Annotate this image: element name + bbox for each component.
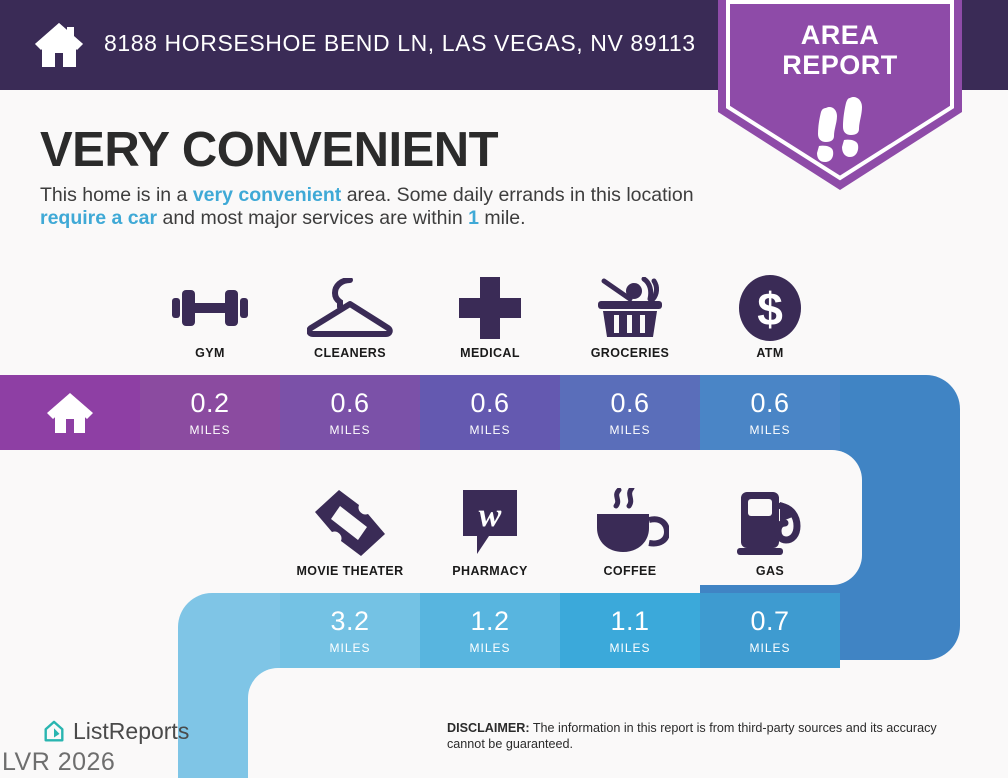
label-medical: MEDICAL [420, 346, 560, 360]
summary-highlight-2: require a car [40, 207, 157, 229]
walgreens-w-icon: w [420, 487, 560, 559]
medical-cross-icon [420, 272, 560, 344]
hanger-icon [280, 272, 420, 344]
distance-unit: MILES [280, 423, 420, 437]
distance-value: 0.6 [280, 390, 420, 417]
listreports-logo-icon [42, 720, 66, 744]
distance-segment-medical: 0.6 MILES [420, 375, 560, 450]
summary-highlight-1: very convenient [193, 184, 341, 206]
distance-unit: MILES [140, 423, 280, 437]
distance-value: 0.2 [140, 390, 280, 417]
distance-value: 0.7 [700, 608, 840, 635]
home-marker-segment [0, 375, 140, 450]
distance-bar-row-1: 0.2 MILES 0.6 MILES 0.6 MILES 0.6 MILES … [0, 375, 840, 450]
summary-highlight-3: 1 [468, 207, 479, 229]
distance-value: 3.2 [280, 608, 420, 635]
distance-value: 1.1 [560, 608, 700, 635]
label-movie-theater: MOVIE THEATER [280, 564, 420, 578]
label-gym: GYM [140, 346, 280, 360]
label-gas: GAS [700, 564, 840, 578]
distance-value: 0.6 [700, 390, 840, 417]
property-address: 8188 HORSESHOE BEND LN, LAS VEGAS, NV 89… [104, 30, 696, 57]
label-groceries: GROCERIES [560, 346, 700, 360]
distance-bar-row-2: 3.2 MILES 1.2 MILES 1.1 MILES 0.7 MILES [178, 593, 840, 668]
distance-segment-atm: 0.6 MILES [700, 375, 840, 450]
svg-text:w: w [479, 497, 502, 534]
svg-text:$: $ [757, 283, 783, 335]
summary-part-1: This home is in a [40, 184, 193, 206]
distance-unit: MILES [560, 423, 700, 437]
distance-unit: MILES [560, 641, 700, 655]
label-pharmacy: PHARMACY [420, 564, 560, 578]
distance-unit: MILES [280, 641, 420, 655]
distance-value: 1.2 [420, 608, 560, 635]
listreports-brand: ListReports [42, 718, 189, 745]
distance-segment-gas: 0.7 MILES [700, 593, 840, 668]
summary-part-4: mile. [479, 207, 526, 229]
area-report-page: 8188 HORSESHOE BEND LN, LAS VEGAS, NV 89… [0, 0, 1008, 778]
distance-segment-cleaners: 0.6 MILES [280, 375, 420, 450]
distance-segment-movie-theater: 3.2 MILES [280, 593, 420, 668]
coffee-cup-icon [560, 487, 700, 559]
summary-text: This home is in a very convenient area. … [40, 184, 720, 230]
label-coffee: COFFEE [560, 564, 700, 578]
disclaimer: DISCLAIMER: The information in this repo… [447, 720, 955, 752]
summary-part-3: and most major services are within [157, 207, 468, 229]
distance-unit: MILES [700, 641, 840, 655]
distance-value: 0.6 [560, 390, 700, 417]
watermark-text: LVR 2026 [2, 748, 115, 777]
dollar-circle-icon: $ [700, 272, 840, 344]
basket-icon [560, 272, 700, 344]
distance-segment-coffee: 1.1 MILES [560, 593, 700, 668]
summary-part-2: area. Some daily errands in this locatio… [341, 184, 693, 206]
distance-unit: MILES [420, 641, 560, 655]
house-icon [46, 391, 94, 435]
distance-value: 0.6 [420, 390, 560, 417]
label-cleaners: CLEANERS [280, 346, 420, 360]
house-icon [33, 20, 85, 70]
page-title: VERY CONVENIENT [40, 122, 498, 178]
distance-unit: MILES [700, 423, 840, 437]
dumbbell-icon [140, 272, 280, 344]
distance-segment-groceries: 0.6 MILES [560, 375, 700, 450]
brand-name: ListReports [73, 718, 189, 745]
gas-pump-icon [700, 487, 840, 559]
distance-unit: MILES [420, 423, 560, 437]
distance-segment-gym: 0.2 MILES [140, 375, 280, 450]
area-report-badge: AREA REPORT [718, 0, 962, 190]
disclaimer-label: DISCLAIMER: [447, 721, 530, 735]
label-atm: ATM [700, 346, 840, 360]
ticket-icon [280, 487, 420, 559]
distance-segment-pharmacy: 1.2 MILES [420, 593, 560, 668]
